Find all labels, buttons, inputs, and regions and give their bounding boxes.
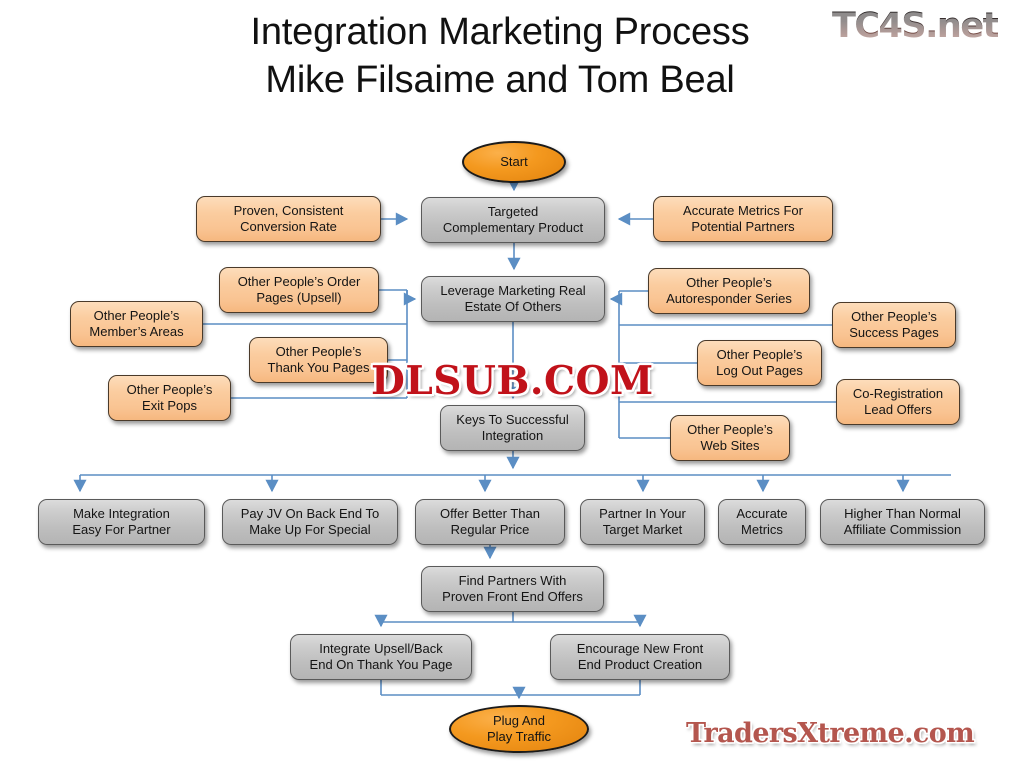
title-line-2: Mike Filsaime and Tom Beal xyxy=(150,56,850,104)
title-line-1: Integration Marketing Process xyxy=(150,8,850,56)
node-keys[interactable]: Keys To Successful Integration xyxy=(440,405,585,451)
node-encourage[interactable]: Encourage New Front End Product Creation xyxy=(550,634,730,680)
node-plugplay[interactable]: Plug And Play Traffic xyxy=(449,705,589,753)
node-partner[interactable]: Partner In Your Target Market xyxy=(580,499,705,545)
node-proven[interactable]: Proven, Consistent Conversion Rate xyxy=(196,196,381,242)
node-logout[interactable]: Other People’s Log Out Pages xyxy=(697,340,822,386)
node-exit-pops[interactable]: Other People’s Exit Pops xyxy=(108,375,231,421)
node-accurate-for[interactable]: Accurate Metrics For Potential Partners xyxy=(653,196,833,242)
tc4s-logo: TC4S.net xyxy=(832,6,998,46)
node-integrate[interactable]: Integrate Upsell/Back End On Thank You P… xyxy=(290,634,472,680)
node-autoresponder[interactable]: Other People’s Autoresponder Series xyxy=(648,268,810,314)
node-easy[interactable]: Make Integration Easy For Partner xyxy=(38,499,205,545)
flowchart-canvas: Integration Marketing Process Mike Filsa… xyxy=(0,0,1024,768)
node-websites[interactable]: Other People’s Web Sites xyxy=(670,415,790,461)
node-member-areas[interactable]: Other People’s Member’s Areas xyxy=(70,301,203,347)
page-title: Integration Marketing Process Mike Filsa… xyxy=(150,8,850,104)
node-targeted[interactable]: Targeted Complementary Product xyxy=(421,197,605,243)
dlsub-watermark: DLSUB.COM xyxy=(371,358,654,404)
node-payjv[interactable]: Pay JV On Back End To Make Up For Specia… xyxy=(222,499,398,545)
node-metrics[interactable]: Accurate Metrics xyxy=(718,499,806,545)
node-start[interactable]: Start xyxy=(462,141,566,183)
node-leverage[interactable]: Leverage Marketing Real Estate Of Others xyxy=(421,276,605,322)
node-higher[interactable]: Higher Than Normal Affiliate Commission xyxy=(820,499,985,545)
node-order-pages[interactable]: Other People’s Order Pages (Upsell) xyxy=(219,267,379,313)
tradersxtreme-logo: TradersXtreme.com xyxy=(686,718,974,749)
node-coreg[interactable]: Co-Registration Lead Offers xyxy=(836,379,960,425)
node-findpartners[interactable]: Find Partners With Proven Front End Offe… xyxy=(421,566,604,612)
node-offer[interactable]: Offer Better Than Regular Price xyxy=(415,499,565,545)
node-thank-you[interactable]: Other People’s Thank You Pages xyxy=(249,337,388,383)
node-success[interactable]: Other People’s Success Pages xyxy=(832,302,956,348)
